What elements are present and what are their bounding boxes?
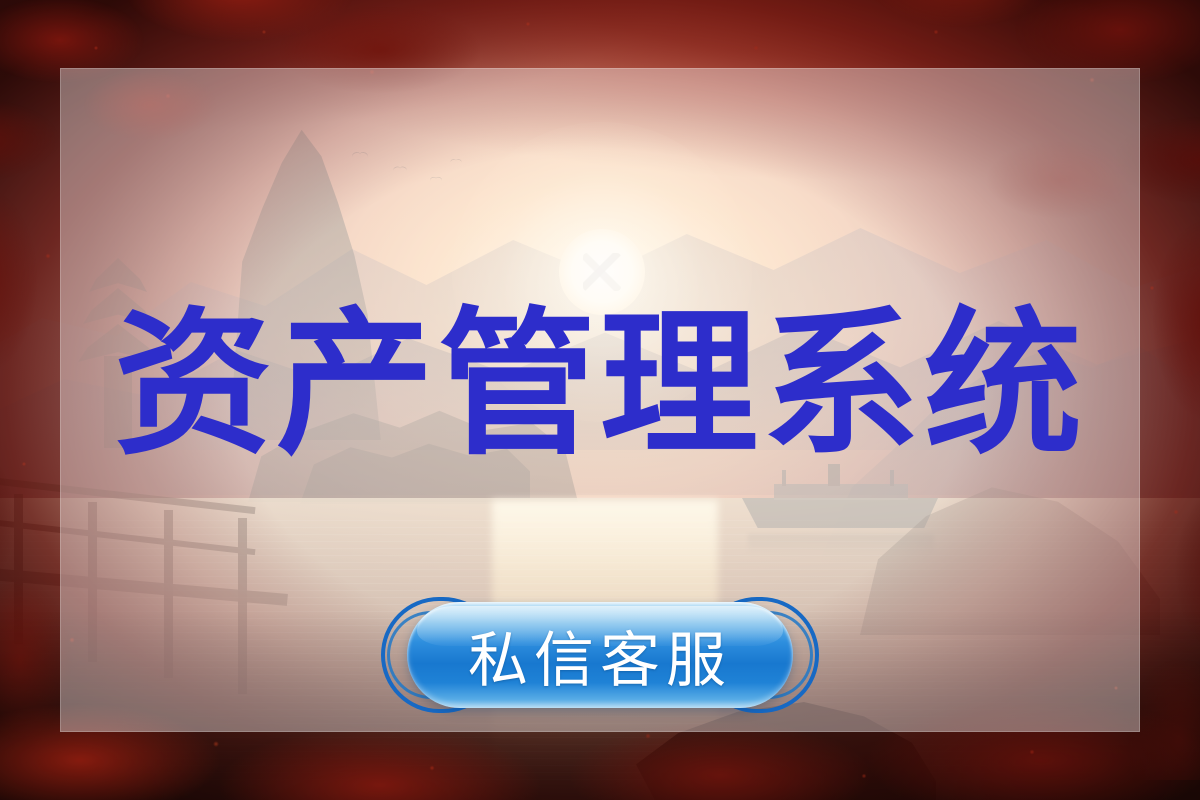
poster-canvas: 资产管理系统 私信客服 — [0, 0, 1200, 800]
contact-support-button[interactable]: 私信客服 — [407, 602, 793, 708]
contact-support-button-label: 私信客服 — [468, 612, 732, 699]
cta-container: 私信客服 — [381, 589, 819, 721]
page-title: 资产管理系统 — [0, 306, 1200, 464]
